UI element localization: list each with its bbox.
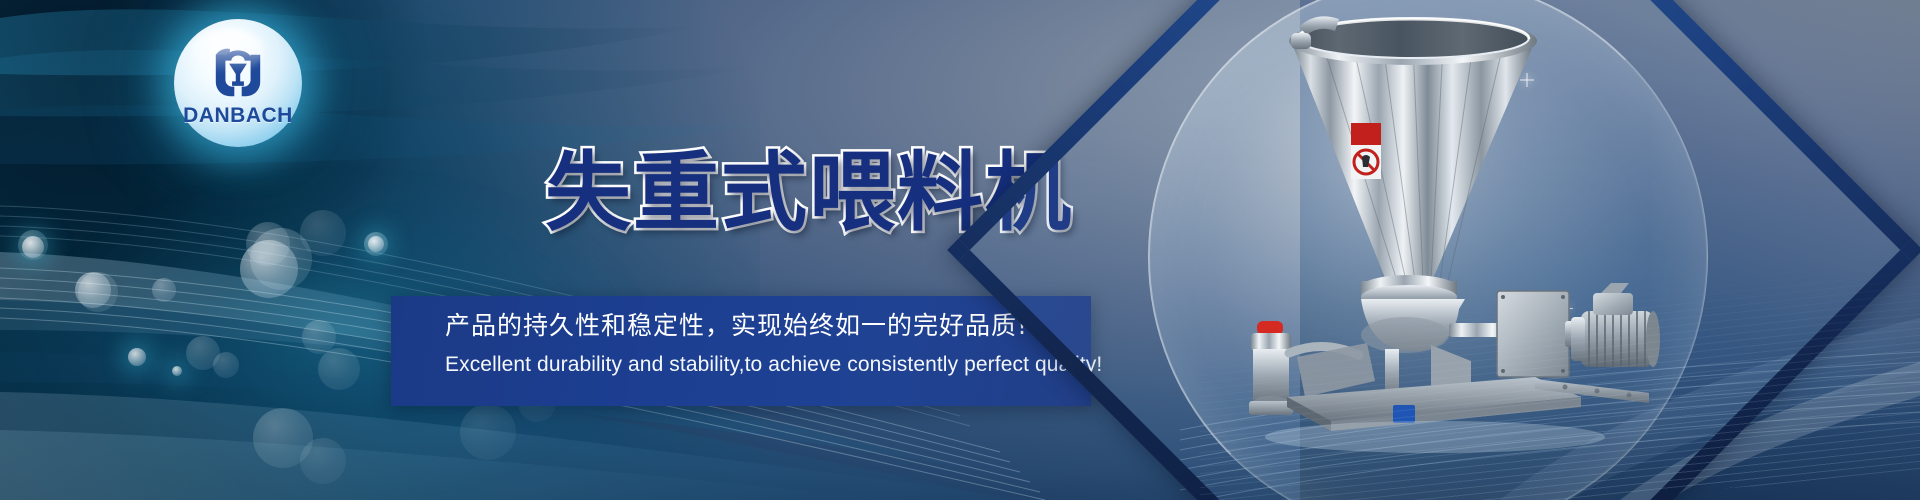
background-vignette <box>0 0 1920 500</box>
product-hero-banner: DANBACH 失重式喂料机 产品的持久性和稳定性，实现始终如一的完好品质! E… <box>0 0 1920 500</box>
